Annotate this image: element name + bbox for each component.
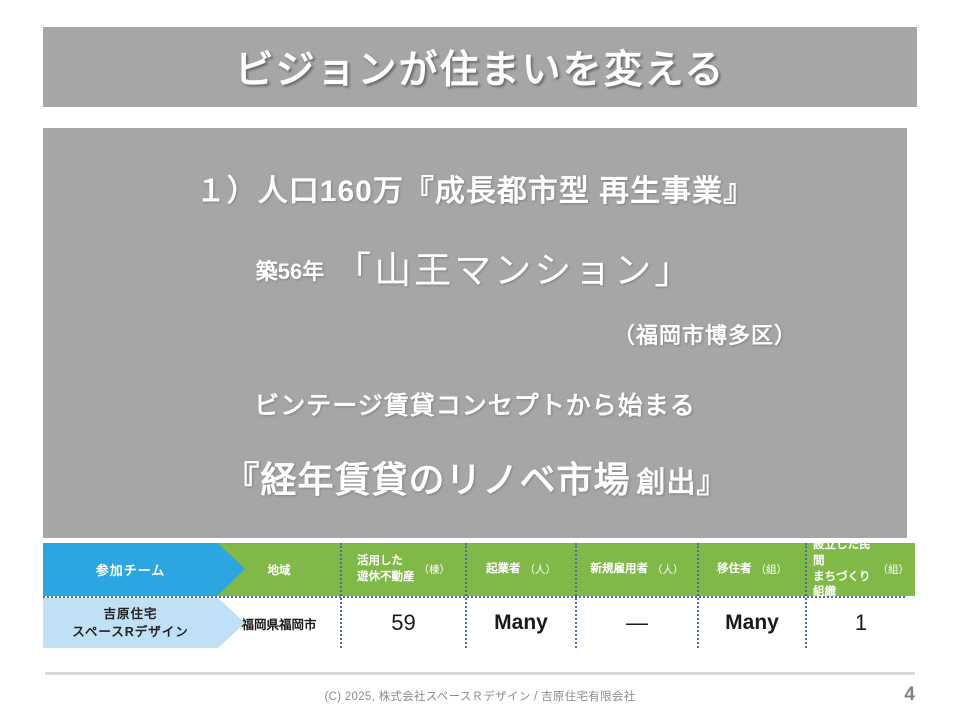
table-header-founders-unit: （人）	[525, 562, 557, 577]
table-cell-vacant-property-value: 59	[391, 610, 415, 636]
content-line-location: （福岡市博多区）	[613, 318, 797, 350]
building-age-label: 築56年	[256, 259, 324, 284]
table-header-vacant-property-label: 活用した 遊休不動産	[357, 554, 415, 585]
table-cell-founders-value: Many	[494, 611, 548, 635]
table-cell-vacant-property: 59	[340, 598, 465, 648]
table-cell-team: 吉原住宅 スペースRデザイン	[43, 598, 218, 648]
table-header-team-label: 参加チーム	[96, 560, 166, 579]
table-header-migrants: 移住者 （組）	[697, 543, 805, 596]
table-cell-migrants-value: Many	[725, 611, 779, 635]
table-header-region-label: 地域	[268, 562, 291, 578]
content-line-building: 築56年「山王マンション」	[43, 240, 907, 294]
table-header-orgs-label: 設立した民間 まちづくり組織	[813, 538, 874, 600]
table-header-new-employment-label: 新規雇用者	[591, 562, 649, 578]
table-cell-orgs: 1	[805, 598, 915, 648]
table-header-new-employment: 新規雇用者 （人）	[575, 543, 697, 596]
table-cell-new-employment: —	[575, 598, 697, 648]
building-name-label: 「山王マンション」	[334, 250, 694, 291]
page-title: ビジョンが住まいを変える	[235, 39, 726, 95]
table-header-orgs-unit: （組）	[878, 562, 910, 577]
content-line-population: １）人口160万『成長都市型 再生事業』	[43, 166, 907, 210]
table-header-migrants-unit: （組）	[756, 562, 788, 577]
table-header-founders-label: 起業者	[486, 562, 521, 578]
results-table: 参加チーム 地域 活用した 遊休不動産 （棟） 起業者 （人） 新規雇用者 （人…	[43, 543, 915, 648]
table-cell-team-label: 吉原住宅 スペースRデザイン	[72, 605, 189, 641]
content-line-concept: ビンテージ賃貸コンセプトから始まる	[43, 386, 907, 422]
table-header-orgs: 設立した民間 まちづくり組織 （組）	[805, 543, 915, 596]
slide-content-panel: １）人口160万『成長都市型 再生事業』 築56年「山王マンション」 （福岡市博…	[43, 128, 907, 538]
table-cell-migrants: Many	[697, 598, 805, 648]
table-header-vacant-property: 活用した 遊休不動産 （棟）	[340, 543, 465, 596]
slide-title-banner: ビジョンが住まいを変える	[43, 27, 917, 107]
content-line-market: 『経年賃貸のリノベ市場創出』	[43, 451, 907, 503]
table-row: 吉原住宅 スペースRデザイン 福岡県福岡市 59 Many — Many 1	[43, 598, 915, 648]
page-number: 4	[904, 684, 915, 706]
footer-copyright: (C) 2025, 株式会社スペースＲデザイン / 吉原住宅有限会社	[0, 688, 960, 704]
market-main-label: 『経年賃貸のリノベ市場	[223, 459, 630, 500]
table-cell-region-label: 福岡県福岡市	[241, 614, 316, 633]
table-header-team: 参加チーム	[43, 543, 218, 596]
table-header-migrants-label: 移住者	[717, 562, 752, 578]
table-cell-new-employment-value: —	[626, 610, 648, 636]
footer-divider	[45, 672, 915, 675]
market-small-label: 創出』	[637, 467, 727, 499]
table-header-founders: 起業者 （人）	[465, 543, 575, 596]
table-cell-founders: Many	[465, 598, 575, 648]
table-cell-orgs-value: 1	[855, 610, 867, 636]
table-header-row: 参加チーム 地域 活用した 遊休不動産 （棟） 起業者 （人） 新規雇用者 （人…	[43, 543, 915, 596]
chevron-right-icon	[218, 598, 245, 648]
chevron-right-icon	[218, 543, 245, 595]
table-header-vacant-property-unit: （棟）	[419, 562, 451, 577]
table-header-new-employment-unit: （人）	[652, 562, 684, 577]
